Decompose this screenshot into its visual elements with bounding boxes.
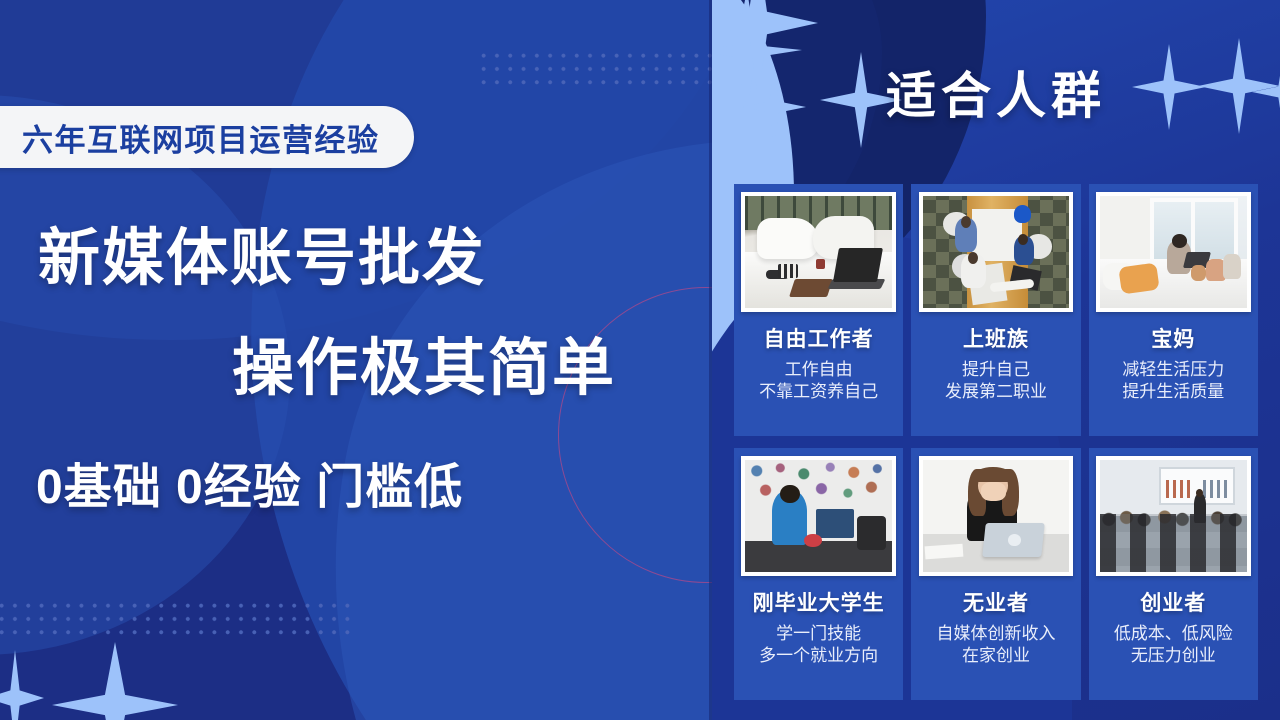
student-at-desk-photo — [745, 460, 892, 572]
headline-line-1: 新媒体账号批发 — [38, 207, 486, 297]
mother-on-bed-with-laptop-photo — [1100, 196, 1247, 308]
headline-line-3: 0基础 0经验 门槛低 — [36, 447, 463, 517]
card-description: 学一门技能 多一个就业方向 — [759, 623, 878, 668]
office-meeting-topdown-photo — [923, 196, 1070, 308]
experience-badge: 六年互联网项目运营经验 — [0, 106, 414, 168]
card-photo-frame — [1096, 192, 1251, 312]
card-description: 提升自己 发展第二职业 — [945, 359, 1047, 404]
card-title: 自由工作者 — [764, 323, 874, 353]
experience-badge-label: 六年互联网项目运营经验 — [22, 115, 380, 160]
audience-card[interactable]: 创业者 低成本、低风险 无压力创业 — [1089, 448, 1258, 700]
card-description: 自媒体创新收入 在家创业 — [936, 623, 1055, 668]
card-photo-frame — [919, 456, 1074, 576]
card-photo-frame — [741, 192, 896, 312]
audience-card-grid: 自由工作者 工作自由 不靠工资养自己 — [734, 184, 1258, 704]
card-desc-line-1: 自媒体创新收入 — [936, 623, 1055, 645]
card-title: 宝妈 — [1151, 323, 1195, 353]
card-description: 减轻生活压力 提升生活质量 — [1122, 359, 1224, 404]
card-desc-line-2: 在家创业 — [936, 645, 1055, 667]
audience-card[interactable]: 上班族 提升自己 发展第二职业 — [911, 184, 1080, 436]
card-photo-frame — [1096, 456, 1251, 576]
card-desc-line-2: 无压力创业 — [1114, 645, 1233, 667]
card-desc-line-1: 提升自己 — [945, 359, 1047, 381]
seminar-room-photo — [1100, 460, 1247, 572]
card-desc-line-1: 工作自由 — [759, 359, 878, 381]
panel-title: 适合人群 — [712, 56, 1280, 128]
audience-card[interactable]: 宝妈 减轻生活压力 提升生活质量 — [1089, 184, 1258, 436]
right-audience-panel: 适合人群 — [712, 0, 1280, 720]
card-desc-line-1: 低成本、低风险 — [1114, 623, 1233, 645]
dot-grid-bottom-decoration — [0, 598, 350, 641]
card-desc-line-1: 减轻生活压力 — [1122, 359, 1224, 381]
card-desc-line-1: 学一门技能 — [759, 623, 878, 645]
stressed-woman-laptop-photo — [923, 460, 1070, 572]
bed-with-laptop-photo — [745, 196, 892, 308]
card-desc-line-2: 不靠工资养自己 — [759, 381, 878, 403]
audience-card[interactable]: 自由工作者 工作自由 不靠工资养自己 — [734, 184, 903, 436]
card-desc-line-2: 多一个就业方向 — [759, 645, 878, 667]
card-title: 创业者 — [1140, 587, 1206, 617]
card-title: 无业者 — [963, 587, 1029, 617]
card-desc-line-2: 发展第二职业 — [945, 381, 1047, 403]
card-title: 刚毕业大学生 — [753, 587, 885, 617]
card-photo-frame — [741, 456, 896, 576]
card-title: 上班族 — [963, 323, 1029, 353]
card-description: 低成本、低风险 无压力创业 — [1114, 623, 1233, 668]
left-hero-panel: 六年互联网项目运营经验 新媒体账号批发 操作极其简单 0基础 0经验 门槛低 — [0, 0, 712, 720]
headline-line-2: 操作极其简单 — [232, 317, 616, 407]
card-photo-frame — [919, 192, 1074, 312]
card-desc-line-2: 提升生活质量 — [1122, 381, 1224, 403]
audience-card[interactable]: 刚毕业大学生 学一门技能 多一个就业方向 — [734, 448, 903, 700]
promo-poster: 六年互联网项目运营经验 新媒体账号批发 操作极其简单 0基础 0经验 门槛低 适… — [0, 0, 1280, 720]
dot-grid-top-decoration — [476, 48, 712, 91]
card-description: 工作自由 不靠工资养自己 — [759, 359, 878, 404]
audience-card[interactable]: 无业者 自媒体创新收入 在家创业 — [911, 448, 1080, 700]
